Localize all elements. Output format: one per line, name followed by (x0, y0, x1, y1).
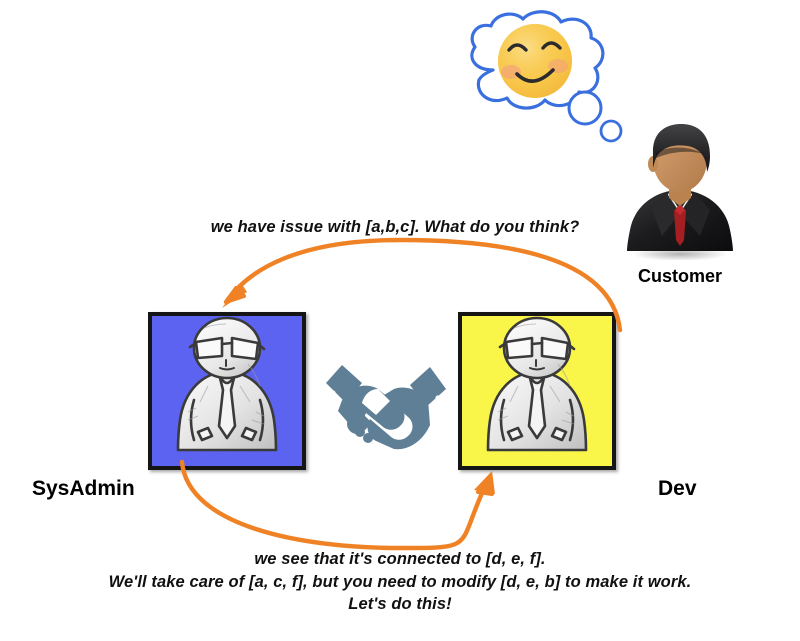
customer-message-text: we have issue with [a,b,c]. What do you … (0, 218, 795, 237)
customer-avatar (622, 118, 738, 260)
smiling-face-emoji (498, 24, 572, 98)
dev-avatar-box (458, 312, 616, 470)
team-response-line-3: Let's do this! (0, 593, 800, 616)
sysadmin-label: SysAdmin (32, 477, 135, 501)
customer-label: Customer (638, 266, 722, 287)
response-arrow (182, 462, 495, 548)
team-response-text: we see that it's connected to [d, e, f].… (0, 548, 800, 616)
team-response-line-2: We'll take care of [a, c, f], but you ne… (0, 571, 800, 594)
sysadmin-avatar-box (148, 312, 306, 470)
team-response-line-1: we see that it's connected to [d, e, f]. (0, 548, 800, 571)
handshake-icon (320, 355, 452, 453)
dev-label: Dev (658, 477, 697, 501)
diagram-canvas: we have issue with [a,b,c]. What do you … (0, 0, 800, 641)
flow-arrows (0, 0, 800, 641)
thought-bubble (445, 8, 645, 143)
